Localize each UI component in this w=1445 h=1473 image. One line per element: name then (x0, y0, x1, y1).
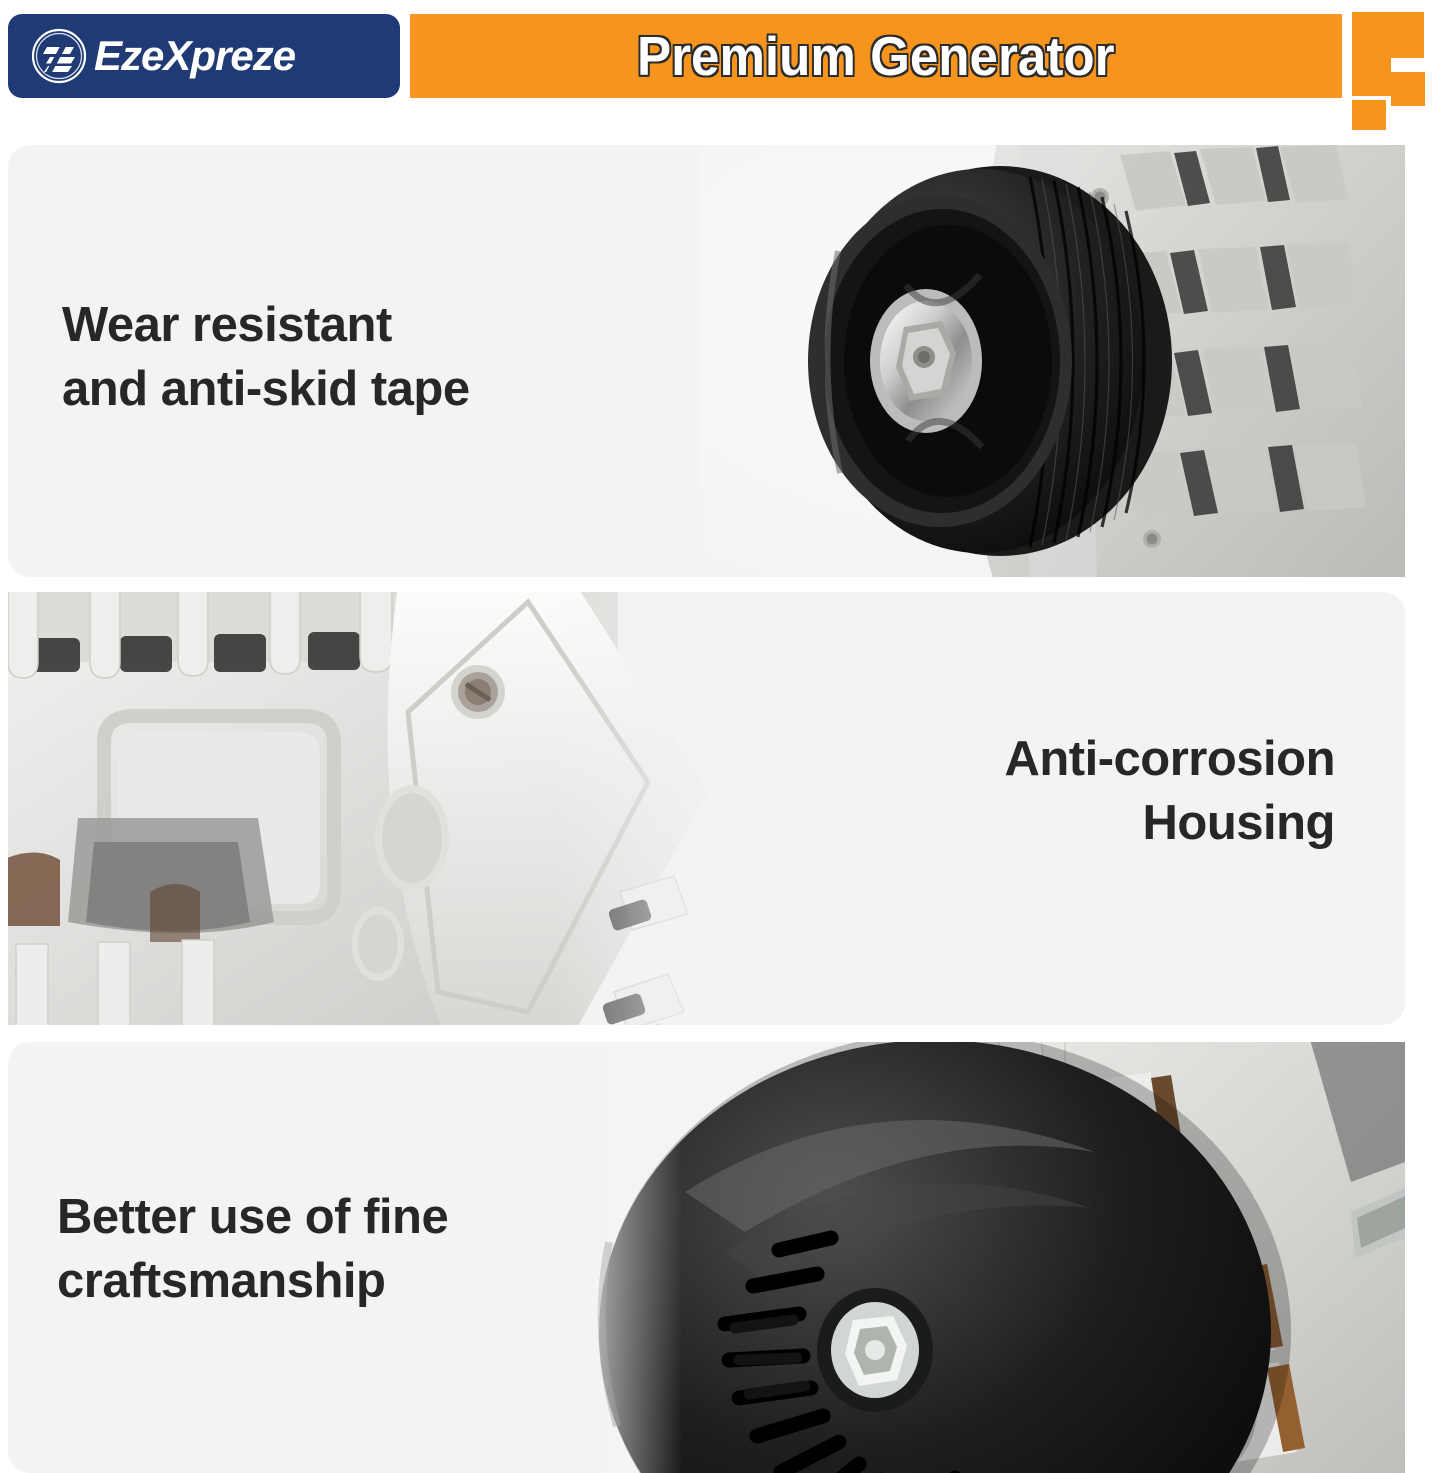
feature-caption-1: Wear resistant and anti-skid tape (62, 294, 470, 421)
orange-pixel-block-c (1391, 72, 1425, 106)
alternator-housing-photo (8, 592, 768, 1025)
title-banner: Premium Generator (410, 14, 1342, 98)
ezexpreze-circle-z-logo-icon (30, 27, 88, 85)
brand-badge: EzeXpreze (8, 14, 400, 98)
brand-name: EzeXpreze (94, 32, 295, 80)
orange-pixel-blocks-icon (1352, 12, 1424, 58)
alternator-end-cover-photo (545, 1042, 1405, 1473)
alternator-pulley-photo (700, 145, 1405, 577)
page-header: EzeXpreze Premium Generator (0, 0, 1445, 130)
feature-caption-3: Better use of fine craftsmanship (57, 1186, 448, 1313)
feature-caption-2: Anti-corrosion Housing (1004, 728, 1335, 855)
orange-pixel-block-b (1352, 58, 1391, 96)
orange-pixel-block-d (1352, 100, 1386, 130)
page-title: Premium Generator (637, 24, 1115, 88)
